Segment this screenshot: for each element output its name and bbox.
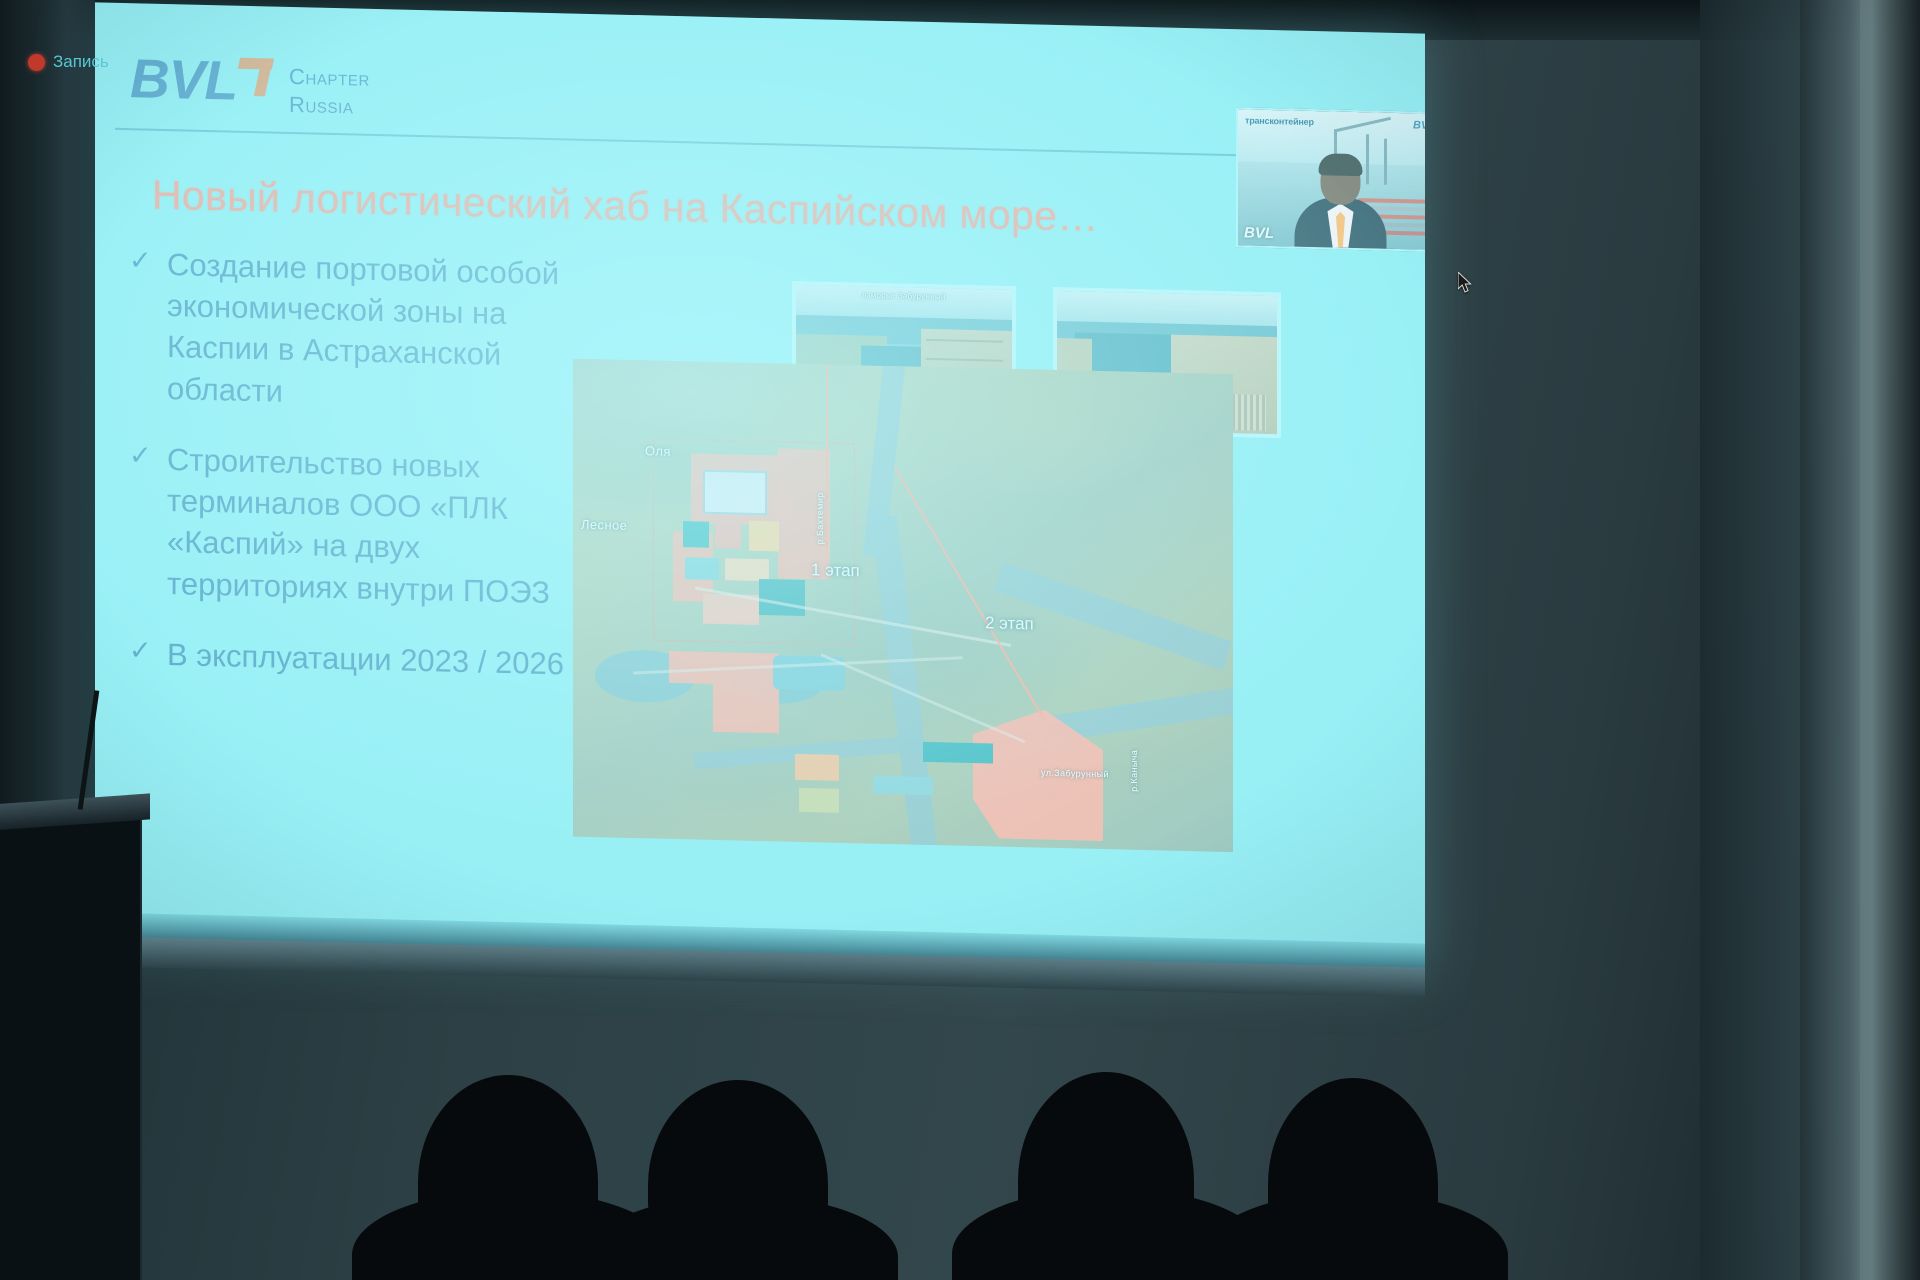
chapter-line-2: Russia xyxy=(289,90,370,119)
audience-head xyxy=(648,1080,828,1280)
speaker-hair xyxy=(1319,153,1363,176)
record-dot-icon xyxy=(28,54,45,71)
map-block xyxy=(795,754,839,781)
check-icon: ✓ xyxy=(125,243,167,409)
video-logo-transcontainer: трансконтейнер xyxy=(1245,115,1314,127)
bvl-wordmark: BVL xyxy=(130,51,237,109)
map-block xyxy=(873,776,933,795)
check-icon: ✓ xyxy=(125,633,167,675)
recording-indicator: Запись xyxy=(28,52,109,72)
speaker-avatar xyxy=(1293,151,1388,249)
bullet-text: В эксплуатации 2023 / 2026 xyxy=(167,634,564,685)
check-icon: ✓ xyxy=(125,438,167,604)
list-item: ✓ Строительство новых терминалов ООО «ПЛ… xyxy=(125,438,595,614)
map-stage-2-label: 2 этап xyxy=(985,613,1034,634)
speaker-video-tile[interactable]: трансконтейнер BVL BVL xyxy=(1236,107,1425,252)
header-divider xyxy=(115,128,1370,160)
site-map: Оля Лесное ул.Забурунный р.Бахтемир р.Ка… xyxy=(573,359,1233,853)
map-label-kanycha: р.Каныча xyxy=(1129,750,1139,792)
map-arrow-stage1 xyxy=(826,365,828,555)
video-corner-label: BVL xyxy=(1244,224,1274,242)
bvl-flag-icon xyxy=(239,58,273,99)
audience-head xyxy=(1268,1078,1438,1280)
bullet-text: Создание портовой особой экономической з… xyxy=(167,244,595,419)
lectern xyxy=(0,820,142,1280)
map-label-olya: Оля xyxy=(645,443,671,459)
video-logo-bvl: BVL xyxy=(1413,119,1425,132)
slide-content: BVL Chapter Russia Новый логистический х… xyxy=(95,2,1425,973)
chapter-text: Chapter Russia xyxy=(289,63,370,120)
recording-label: Запись xyxy=(53,52,109,72)
map-label-zaburunny: ул.Забурунный xyxy=(1041,768,1109,780)
map-label-bahtemir: р.Бахтемир xyxy=(815,492,825,544)
bullet-list: ✓ Создание портовой особой экономической… xyxy=(125,243,595,715)
map-block xyxy=(799,788,839,813)
audience-head xyxy=(1018,1072,1194,1280)
list-item: ✓ В эксплуатации 2023 / 2026 xyxy=(125,633,595,685)
audience-head xyxy=(418,1075,598,1280)
right-wall-shadow xyxy=(1860,0,1920,1280)
map-stage-1-label: 1 этап xyxy=(811,560,860,581)
bvl-logo: BVL Chapter Russia xyxy=(130,51,370,120)
projection-screen: BVL Chapter Russia Новый логистический х… xyxy=(95,2,1425,973)
bullet-text: Строительство новых терминалов ООО «ПЛК … xyxy=(167,439,595,614)
map-label-lesnoe: Лесное xyxy=(581,517,627,533)
list-item: ✓ Создание портовой особой экономической… xyxy=(125,243,595,419)
slide-title: Новый логистический хаб на Каспийском мо… xyxy=(152,172,1272,245)
photo1-caption-top: взморье Забурунный xyxy=(862,290,945,301)
map-block xyxy=(923,742,993,764)
chapter-line-1: Chapter xyxy=(289,63,370,92)
right-wall-column-inner xyxy=(1700,0,1800,1280)
room-scene: Запись BVL Chapter Russia Новый логистич… xyxy=(0,0,1920,1280)
